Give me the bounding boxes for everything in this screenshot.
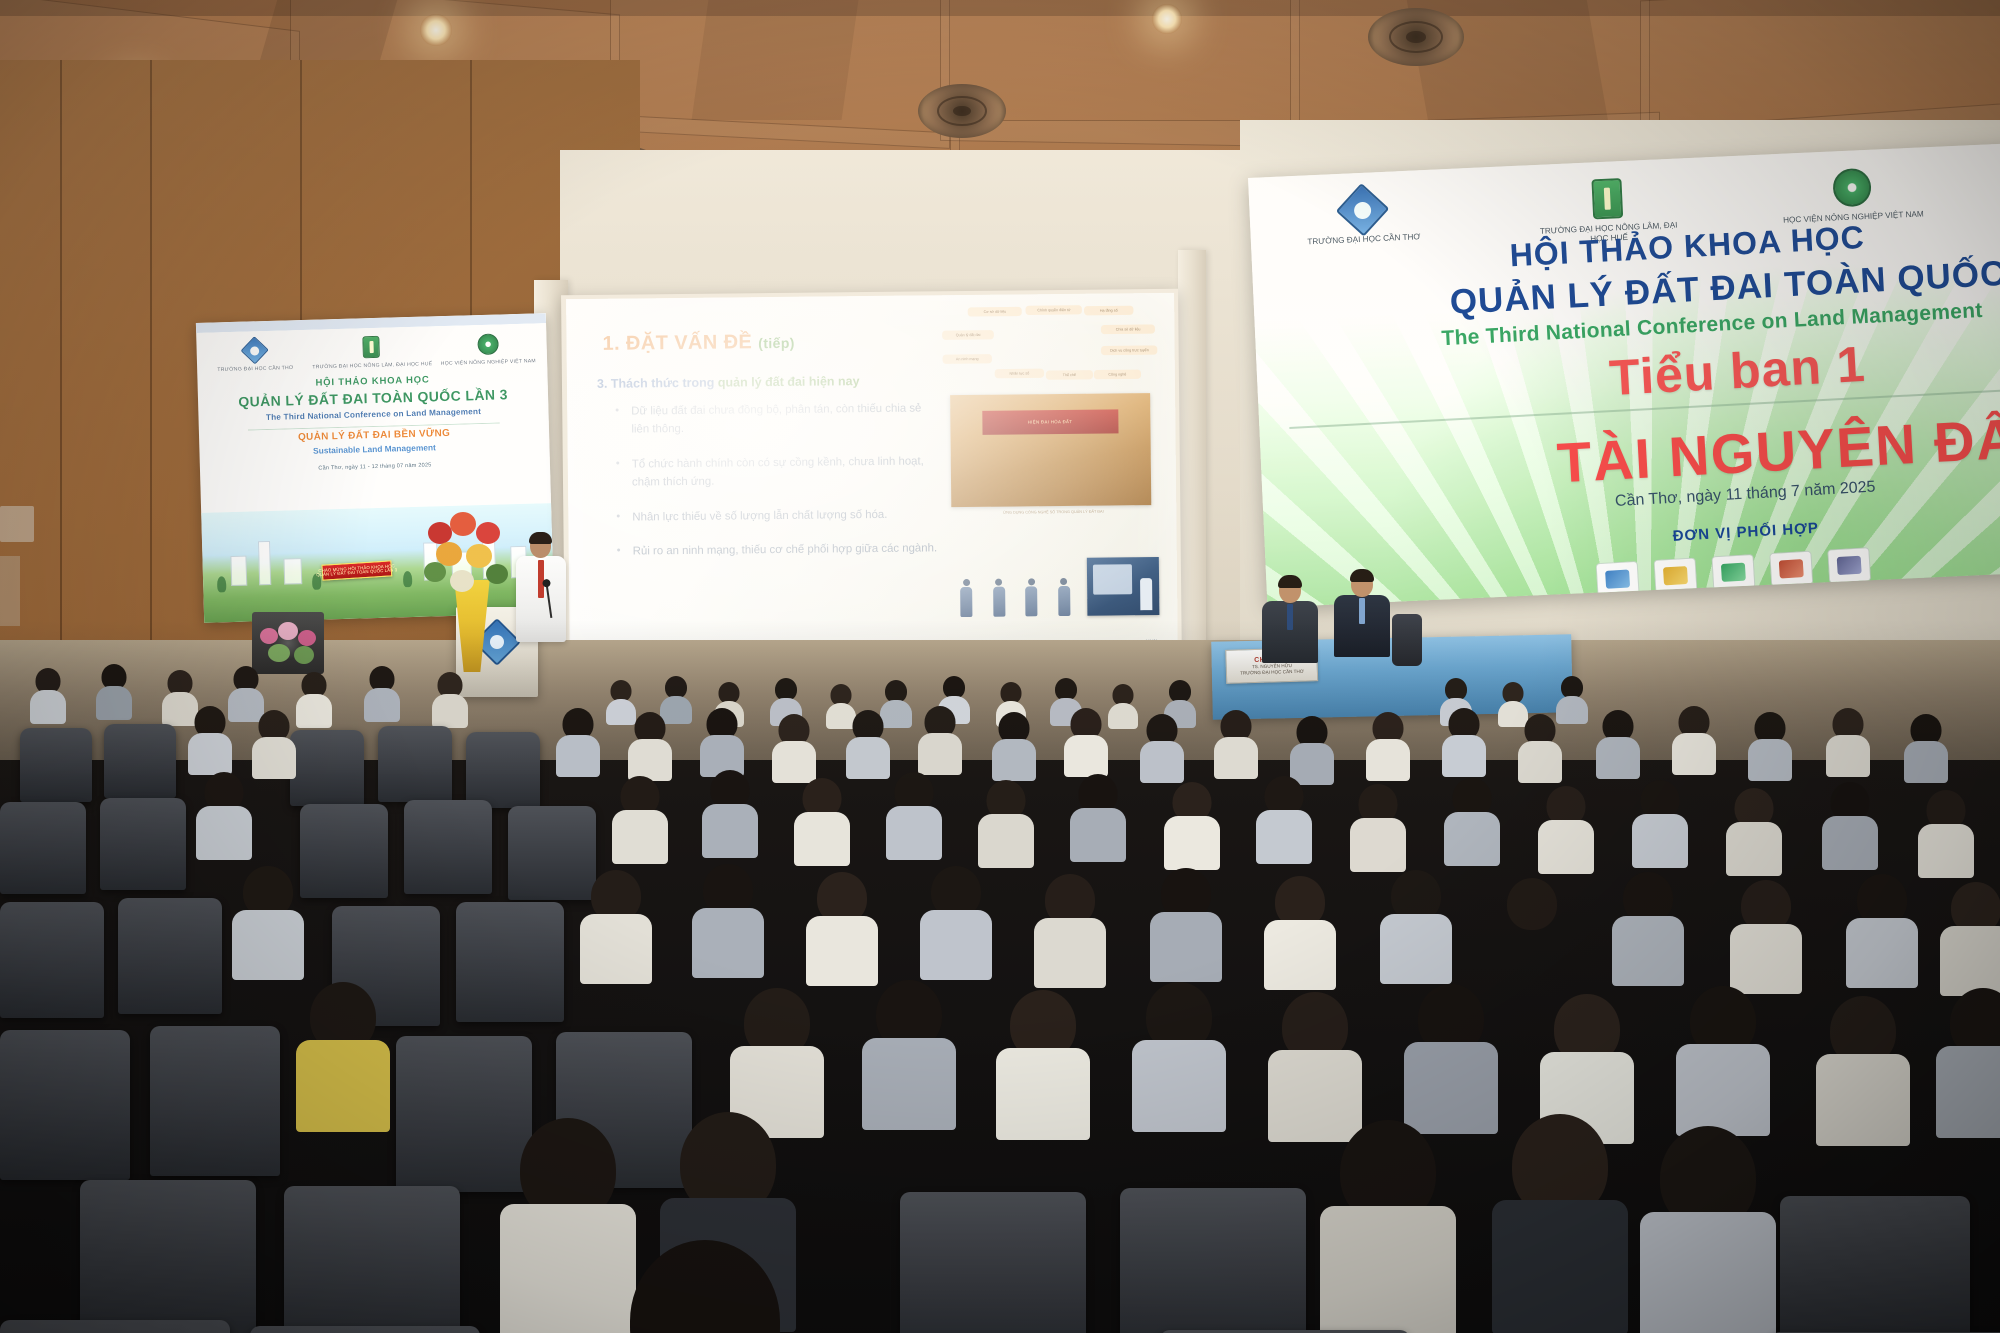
ceiling-light-2 xyxy=(420,14,452,46)
audience-member-foreground xyxy=(1492,1114,1628,1330)
audience-member xyxy=(1442,708,1486,774)
logo-caption: HỌC VIỆN NÔNG NGHIỆP VIỆT NAM xyxy=(421,358,554,368)
audience-member xyxy=(1140,714,1184,780)
audience-member xyxy=(920,866,992,976)
audience-member xyxy=(96,664,132,718)
audience-member xyxy=(1150,868,1222,978)
slide-bullet: Tổ chức hành chính còn có sự cồng kềnh, … xyxy=(612,452,942,492)
audience-member xyxy=(1264,876,1336,986)
can-tho-university-icon xyxy=(1287,185,1439,234)
projection-screen: 1. ĐẶT VẤN ĐỀ (tiếp) 3. Thách thức trong… xyxy=(566,293,1178,667)
audience-member xyxy=(700,708,744,774)
vnua-icon xyxy=(1776,163,1928,212)
seat-back xyxy=(466,732,540,808)
seat-back xyxy=(378,726,452,802)
banner-left-logos: TRƯỜNG ĐẠI HỌC CẦN THƠ TRƯỜNG ĐẠI HỌC NÔ… xyxy=(196,329,547,373)
seat-back xyxy=(20,728,92,802)
mindmap-node: An ninh mạng xyxy=(942,354,992,364)
audience-member xyxy=(1936,988,2000,1134)
slide-bullet: Rủi ro an ninh mạng, thiếu cơ chế phối h… xyxy=(613,540,943,562)
audience-member xyxy=(918,706,962,772)
audience-member xyxy=(1164,782,1220,866)
audience-member-foreground xyxy=(1320,1120,1456,1333)
vnua-icon xyxy=(434,329,543,358)
audience-member xyxy=(1350,784,1406,868)
slide-section-highlight: quản lý đất đai hiện nay xyxy=(718,374,860,389)
slide-photo-caption: HIỆN ĐẠI HÓA ĐẤT xyxy=(1028,419,1073,424)
logo-can-tho-university: TRƯỜNG ĐẠI HỌC CẦN THƠ xyxy=(1287,185,1439,248)
banner-right-session: Tiểu ban 1 xyxy=(1608,335,1867,407)
audience-member xyxy=(1214,710,1258,776)
mindmap-node: Dịch vụ công trực tuyến xyxy=(1101,345,1158,355)
slide-bullet-list: Dữ liệu đất đai chưa đồng bộ, phân tán, … xyxy=(611,399,943,577)
audience-member-foreground xyxy=(1640,1126,1776,1333)
audience-member xyxy=(1676,986,1770,1132)
audience-member xyxy=(1034,874,1106,984)
seat-back xyxy=(284,1186,460,1333)
seat-back xyxy=(290,730,364,806)
logo-can-tho-university: TRƯỜNG ĐẠI HỌC CẦN THƠ xyxy=(200,336,309,373)
audience-member xyxy=(862,980,956,1126)
hue-university-icon xyxy=(317,333,426,362)
audience-member xyxy=(1444,778,1500,862)
audience-member xyxy=(1822,782,1878,866)
ceiling-vent-3 xyxy=(918,84,1006,138)
audience-member xyxy=(1748,712,1792,778)
banner-left-date: Cần Thơ, ngày 11 - 12 tháng 07 năm 2025 xyxy=(200,459,550,475)
audience-member xyxy=(1538,786,1594,870)
audience-member xyxy=(692,864,764,974)
seat-back xyxy=(1120,1188,1306,1333)
audience-member xyxy=(1268,992,1362,1138)
logo-vnua: HỌC VIỆN NÔNG NGHIỆP VIỆT NAM xyxy=(434,329,543,366)
slide-bullet: Dữ liệu đất đai chưa đồng bộ, phân tán, … xyxy=(611,399,941,439)
audience-member xyxy=(1726,788,1782,872)
seat-back xyxy=(456,902,564,1022)
wall-sign-left xyxy=(0,506,34,542)
audience-member xyxy=(1612,872,1684,982)
audience-area xyxy=(0,620,2000,1333)
audience-member xyxy=(296,672,332,726)
audience-member xyxy=(30,668,66,722)
ceiling-vent-4 xyxy=(1368,8,1464,66)
seat-back xyxy=(0,902,104,1018)
ceiling-light-3 xyxy=(1152,4,1182,34)
audience-member xyxy=(1518,714,1562,780)
audience-member xyxy=(1380,870,1452,980)
audience-member xyxy=(1904,714,1948,780)
audience-member xyxy=(556,708,600,774)
seat-back xyxy=(900,1192,1086,1333)
audience-member xyxy=(612,776,668,860)
audience-member xyxy=(1404,984,1498,1130)
audience-member xyxy=(772,714,816,780)
conference-hall-photo: TRƯỜNG ĐẠI HỌC CẦN THƠ TRƯỜNG ĐẠI HỌC NÔ… xyxy=(0,0,2000,1333)
slide-photo-audience xyxy=(955,467,1147,503)
audience-member xyxy=(1290,716,1334,782)
hue-university-icon xyxy=(1531,174,1683,223)
slide-photo-conference: HIỆN ĐẠI HÓA ĐẤT xyxy=(950,393,1151,507)
audience-member xyxy=(232,866,304,976)
audience-member xyxy=(1366,712,1410,778)
partner-logo-4 xyxy=(1769,551,1813,587)
seat-back xyxy=(150,1026,280,1176)
mindmap-node: Chính quyền điện tử xyxy=(1025,305,1082,315)
seat-back xyxy=(404,800,492,894)
audience-member xyxy=(1596,710,1640,776)
audience-member xyxy=(806,872,878,982)
slide-mindmap-diagram: Cơ sở dữ liệu Chính quyền điện tử Hạ tần… xyxy=(945,303,1161,391)
audience-member xyxy=(1064,708,1108,774)
audience-member xyxy=(1918,790,1974,874)
slide-media-column: Cơ sở dữ liệu Chính quyền điện tử Hạ tần… xyxy=(945,303,1164,651)
slide-photo-banner: HIỆN ĐẠI HÓA ĐẤT xyxy=(982,409,1118,435)
slide-title-suffix: (tiếp) xyxy=(758,335,795,351)
audience-member xyxy=(992,712,1036,778)
audience-member xyxy=(1846,874,1918,984)
mindmap-node: Thể chế xyxy=(1046,370,1093,380)
audience-member xyxy=(196,772,252,856)
slide-people-illustration xyxy=(952,554,1079,617)
logo-vnua: HỌC VIỆN NÔNG NGHIỆP VIỆT NAM xyxy=(1776,163,1928,226)
slide-section-number: 3. Thách thức trong xyxy=(597,376,715,391)
audience-member xyxy=(996,990,1090,1136)
seat-back xyxy=(80,1180,256,1333)
audience-member xyxy=(1632,780,1688,864)
audience-member xyxy=(978,780,1034,864)
seat-back-foreground xyxy=(250,1326,480,1333)
seat-back xyxy=(104,724,176,798)
audience-member xyxy=(1070,774,1126,858)
slide-title-main: 1. ĐẶT VẤN ĐỀ xyxy=(602,331,752,355)
welcome-ribbon: CHÀO MỪNG HỘI THẢO KHOA HỌC QUẢN LÝ ĐẤT … xyxy=(321,560,392,580)
audience-member xyxy=(432,672,468,726)
audience-member xyxy=(702,770,758,854)
audience-member xyxy=(1730,880,1802,990)
slide-mini-photo xyxy=(1087,557,1160,616)
mindmap-node: Cơ sở dữ liệu xyxy=(967,307,1021,317)
audience-member xyxy=(886,772,942,856)
audience-member xyxy=(296,982,390,1128)
mindmap-node: Chia sẻ dữ liệu xyxy=(1101,325,1155,335)
audience-member xyxy=(628,712,672,778)
audience-member xyxy=(188,706,232,772)
audience-member xyxy=(252,710,296,776)
banner-right-partners-label: ĐƠN VỊ PHỐI HỢP xyxy=(1672,520,1819,545)
banner-right-topic: TÀI NGUYÊN ĐẤT xyxy=(1555,404,2000,496)
logo-hue-university: TRƯỜNG ĐẠI HỌC NÔNG LÂM, ĐẠI HỌC HUẾ xyxy=(317,333,426,370)
audience-member xyxy=(364,666,400,720)
partner-logo-5 xyxy=(1827,547,1871,583)
can-tho-university-icon xyxy=(200,336,309,365)
seat-back xyxy=(1780,1196,1970,1333)
seat-back xyxy=(118,898,222,1014)
seat-back-foreground xyxy=(0,1320,230,1333)
audience-member xyxy=(794,778,850,862)
audience-member xyxy=(1256,776,1312,860)
audience-member xyxy=(1672,706,1716,772)
pillar-right xyxy=(1178,250,1206,680)
slide-media-caption: ỨNG DỤNG CÔNG NGHỆ SỐ TRONG QUẢN LÝ ĐẤT … xyxy=(941,509,1165,516)
seat-back xyxy=(100,798,186,890)
audience-member xyxy=(1940,882,2000,992)
audience-member-foreground xyxy=(600,1240,810,1333)
audience-member xyxy=(580,870,652,980)
audience-member xyxy=(1496,878,1568,988)
mindmap-node: Nhân lực số xyxy=(994,369,1044,379)
partner-logo-3 xyxy=(1711,554,1755,590)
seat-back xyxy=(0,802,86,894)
seat-back xyxy=(0,1030,130,1180)
banner-right: TRƯỜNG ĐẠI HỌC CẦN THƠ TRƯỜNG ĐẠI HỌC NÔ… xyxy=(1248,143,2000,608)
mindmap-node: Hạ tầng số xyxy=(1084,306,1134,316)
mindmap-node: Quản lý đất đai xyxy=(942,330,994,340)
audience-member xyxy=(1816,996,1910,1142)
mindmap-node: Công nghệ xyxy=(1093,370,1140,380)
audience-member xyxy=(1826,708,1870,774)
audience-member xyxy=(1132,982,1226,1128)
slide-section-heading: 3. Thách thức trong quản lý đất đai hiện… xyxy=(597,374,860,391)
seat-back xyxy=(300,804,388,898)
audience-member xyxy=(846,710,890,776)
audience-member xyxy=(1108,684,1138,728)
slide-bullet: Nhân lực thiếu về số lượng lẫn chất lượn… xyxy=(612,505,942,527)
slide-title: 1. ĐẶT VẤN ĐỀ (tiếp) xyxy=(602,331,794,356)
wall-panel-left xyxy=(0,556,20,626)
